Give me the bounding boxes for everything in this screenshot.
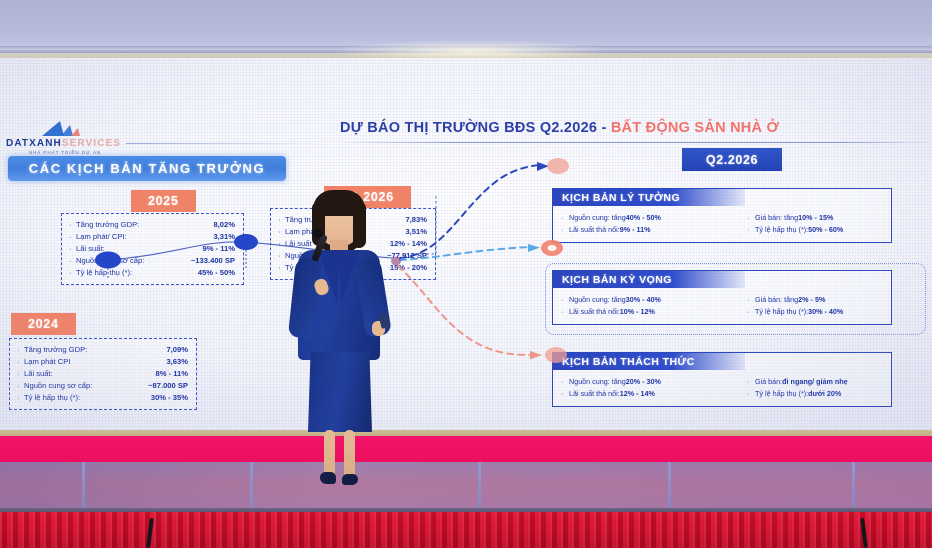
scenario-row: ·Lãi suất thả nổi: 9% - 11% ·Tỷ lệ hấp t… — [561, 224, 885, 236]
data-label: Lạm phát/ CPI: — [76, 231, 127, 243]
scenario-row: ·Nguồn cung: tăng 40% - 50% ·Giá bán: tă… — [561, 212, 885, 224]
logo-divider — [126, 143, 326, 144]
data-label: Lãi suất: — [76, 243, 105, 255]
slide-title-highlight: BẤT ĐỘNG SẢN NHÀ Ở — [611, 120, 779, 136]
deck-seam — [250, 462, 253, 512]
data-row: ·Tỷ lệ hấp thụ (*):45% - 50% — [69, 267, 235, 279]
scenario-label: Giá bán: tăng — [755, 294, 798, 306]
scenario-title: KỊCH BẢN KỲ VỌNG — [562, 274, 672, 286]
scenario-header: KỊCH BẢN LÝ TƯỞNG — [553, 189, 745, 206]
bullet-icon: · — [69, 255, 76, 267]
data-label: Lãi suất: — [24, 368, 53, 380]
logo-tagline: NHÀ PHÁT TRIỂN DỰ ÁN — [6, 150, 124, 155]
data-value: 8% - 11% — [145, 368, 188, 380]
scenario-value: 40% - 50% — [626, 212, 661, 224]
scenario-cell: ·Giá bán: tăng 2% - 5% — [747, 294, 825, 306]
datxanh-logo: DATXANHSERVICES NHÀ PHÁT TRIỂN DỰ ÁN — [6, 120, 124, 155]
data-value: 8,02% — [203, 219, 235, 231]
scenario-cell: ·Nguồn cung: tăng 20% - 30% — [561, 376, 747, 388]
data-row: ·Tăng trưởng GDP:8,02% — [69, 219, 235, 231]
scenario-body: ·Nguồn cung: tăng 40% - 50% ·Giá bán: tă… — [553, 206, 891, 242]
data-label: Nguồn cung sơ cấp: — [24, 380, 92, 392]
bullet-icon: · — [17, 344, 24, 356]
bullet-icon: · — [747, 376, 755, 388]
scenario-label: Nguồn cung: tăng — [569, 212, 626, 224]
presenter-hair-right — [353, 202, 366, 248]
deck-seam — [478, 462, 481, 512]
scenario-value: 9% - 11% — [620, 224, 651, 236]
presenter-shoe-left — [320, 472, 336, 484]
slide-title: DỰ BÁO THỊ TRƯỜNG BĐS Q2.2026 - BẤT ĐỘNG… — [340, 120, 920, 136]
data-row: ·Tỷ lệ hấp thụ (*):30% - 35% — [17, 392, 188, 404]
bullet-icon: · — [17, 392, 24, 404]
data-box-2025: ·Tăng trưởng GDP:8,02% ·Lạm phát/ CPI:3,… — [61, 213, 244, 285]
scenario-label: Lãi suất thả nổi: — [569, 224, 620, 236]
data-row: ·Lãi suất:8% - 11% — [17, 368, 188, 380]
logo-arrow-icon — [6, 120, 124, 137]
data-label: Tỷ lệ hấp thụ (*): — [76, 267, 132, 279]
logo-wordmark: DATXANHSERVICES — [6, 138, 124, 149]
presenter-skirt — [308, 352, 372, 432]
scenario-label: Giá bán: tăng — [755, 212, 798, 224]
scenario-label: Tỷ lệ hấp thụ (*): — [755, 306, 808, 318]
scenario-label: Nguồn cung: tăng — [569, 294, 626, 306]
presenter-shoe-right — [342, 474, 358, 485]
data-label: Lạm phát CPI — [24, 356, 70, 368]
data-value: 30% - 35% — [141, 392, 188, 404]
scenario-row: ·Nguồn cung: tăng 30% - 40% ·Giá bán: tă… — [561, 294, 885, 306]
scenario-label: Giá bán: — [755, 376, 782, 388]
microphone-head-icon — [313, 229, 323, 238]
slide-content: DATXANHSERVICES NHÀ PHÁT TRIỂN DỰ ÁN DỰ … — [0, 58, 932, 430]
stage-deck — [0, 462, 932, 512]
scenario-cell: ·Tỷ lệ hấp thụ (*): dưới 20% — [747, 388, 841, 400]
year-tag-label: 2025 — [148, 194, 179, 208]
scenario-value: đi ngang/ giảm nhẹ — [782, 376, 848, 388]
bullet-icon: · — [69, 267, 76, 279]
bullet-icon: · — [17, 380, 24, 392]
data-row: ·Lạm phát CPI3,63% — [17, 356, 188, 368]
projection-screen: DATXANHSERVICES NHÀ PHÁT TRIỂN DỰ ÁN DỰ … — [0, 58, 932, 430]
scenario-label: Tỷ lệ hấp thụ (*): — [755, 388, 808, 400]
bullet-icon: · — [747, 212, 755, 224]
section-header-label: CÁC KỊCH BẢN TĂNG TRƯỞNG — [29, 161, 266, 176]
logo-word-main: DATXANH — [6, 138, 62, 149]
bullet-icon: · — [561, 224, 569, 236]
scenario-label: Tỷ lệ hấp thụ (*): — [755, 224, 808, 236]
scenario-title: KỊCH BẢN THÁCH THỨC — [562, 356, 695, 368]
scenario-value: 30% - 40% — [626, 294, 661, 306]
data-value: 3,31% — [203, 231, 235, 243]
scenario-row: ·Lãi suất thả nổi: 10% - 12% ·Tỷ lệ hấp … — [561, 306, 885, 318]
scenario-cell: ·Tỷ lệ hấp thụ (*): 30% - 40% — [747, 306, 843, 318]
scenario-cell: ·Lãi suất thả nổi: 12% - 14% — [561, 388, 747, 400]
scenario-header: KỊCH BẢN THÁCH THỨC — [553, 353, 745, 370]
data-label: Tăng trưởng GDP: — [24, 344, 87, 356]
data-row: ·Nguồn cung sơ cấp:~133.400 SP — [69, 255, 235, 267]
year-tag-2025: 2025 — [131, 190, 196, 212]
scenario-card-expected: KỊCH BẢN KỲ VỌNG ·Nguồn cung: tăng 30% -… — [552, 270, 892, 325]
quarter-badge: Q2.2026 — [682, 148, 782, 171]
bullet-icon: · — [561, 306, 569, 318]
logo-word-accent: SERVICES — [62, 138, 121, 149]
bullet-icon: · — [747, 224, 755, 236]
data-value: 7,09% — [156, 344, 188, 356]
presenter-person — [262, 184, 422, 484]
deck-seam — [852, 462, 855, 512]
deck-shading — [0, 462, 932, 512]
bullet-icon: · — [17, 356, 24, 368]
bullet-icon: · — [561, 212, 569, 224]
data-row: ·Tăng trưởng GDP:7,09% — [17, 344, 188, 356]
scenario-value: 2% - 5% — [798, 294, 825, 306]
scenario-row: ·Nguồn cung: tăng 20% - 30% ·Giá bán: đi… — [561, 376, 885, 388]
deck-seam — [82, 462, 85, 512]
scenario-cell: ·Nguồn cung: tăng 30% - 40% — [561, 294, 747, 306]
year-tag-label: 2024 — [28, 317, 59, 331]
scenario-body: ·Nguồn cung: tăng 20% - 30% ·Giá bán: đi… — [553, 370, 891, 406]
scenario-value: 30% - 40% — [808, 306, 843, 318]
bullet-icon: · — [747, 388, 755, 400]
data-label: Nguồn cung sơ cấp: — [76, 255, 144, 267]
data-value: ~87.000 SP — [138, 380, 188, 392]
scenario-value: 12% - 14% — [620, 388, 655, 400]
data-value: 45% - 50% — [188, 267, 235, 279]
presentation-scene: DATXANHSERVICES NHÀ PHÁT TRIỂN DỰ ÁN DỰ … — [0, 0, 932, 548]
scenario-body: ·Nguồn cung: tăng 30% - 40% ·Giá bán: tă… — [553, 288, 891, 324]
data-label: Tỷ lệ hấp thụ (*): — [24, 392, 80, 404]
deck-seam — [668, 462, 671, 512]
scenario-cell: ·Giá bán: đi ngang/ giảm nhẹ — [747, 376, 848, 388]
scenario-value: 10% - 15% — [798, 212, 833, 224]
scenario-title: KỊCH BẢN LÝ TƯỞNG — [562, 192, 680, 204]
bullet-icon: · — [561, 376, 569, 388]
scenario-value: 10% - 12% — [620, 306, 655, 318]
scenario-cell: ·Lãi suất thả nổi: 9% - 11% — [561, 224, 747, 236]
stage-red-carpet — [0, 436, 932, 464]
scenario-cell: ·Giá bán: tăng 10% - 15% — [747, 212, 833, 224]
bullet-icon: · — [17, 368, 24, 380]
data-value: 3,63% — [156, 356, 188, 368]
scenario-card-ideal: KỊCH BẢN LÝ TƯỞNG ·Nguồn cung: tăng 40% … — [552, 188, 892, 243]
quarter-badge-label: Q2.2026 — [706, 153, 758, 167]
data-box-2024: ·Tăng trưởng GDP:7,09% ·Lạm phát CPI3,63… — [9, 338, 197, 410]
bullet-icon: · — [561, 388, 569, 400]
data-label: Tăng trưởng GDP: — [76, 219, 139, 231]
scenario-header: KỊCH BẢN KỲ VỌNG — [553, 271, 745, 288]
bullet-icon: · — [69, 219, 76, 231]
scenario-value: dưới 20% — [808, 388, 841, 400]
bullet-icon: · — [747, 294, 755, 306]
scenario-row: ·Lãi suất thả nổi: 12% - 14% ·Tỷ lệ hấp … — [561, 388, 885, 400]
stage-skirt-curtain — [0, 512, 932, 548]
bullet-icon: · — [69, 231, 76, 243]
data-value: 9% - 11% — [192, 243, 235, 255]
scenario-card-challenging: KỊCH BẢN THÁCH THỨC ·Nguồn cung: tăng 20… — [552, 352, 892, 407]
data-row: ·Lãi suất:9% - 11% — [69, 243, 235, 255]
scenario-cell: ·Tỷ lệ hấp thụ (*): 50% - 60% — [747, 224, 843, 236]
slide-title-main: DỰ BÁO THỊ TRƯỜNG BĐS Q2.2026 - — [340, 120, 611, 136]
section-header-growth-scenarios: CÁC KỊCH BẢN TĂNG TRƯỞNG — [8, 156, 286, 181]
scenario-label: Nguồn cung: tăng — [569, 376, 626, 388]
scenario-value: 50% - 60% — [808, 224, 843, 236]
data-row: ·Lạm phát/ CPI:3,31% — [69, 231, 235, 243]
bullet-icon: · — [561, 294, 569, 306]
bullet-icon: · — [747, 306, 755, 318]
scenario-label: Lãi suất thả nổi: — [569, 388, 620, 400]
bullet-icon: · — [69, 243, 76, 255]
scenario-label: Lãi suất thả nổi: — [569, 306, 620, 318]
title-divider — [340, 142, 928, 143]
scenario-cell: ·Lãi suất thả nổi: 10% - 12% — [561, 306, 747, 318]
scenario-cell: ·Nguồn cung: tăng 40% - 50% — [561, 212, 747, 224]
year-tag-2024: 2024 — [11, 313, 76, 335]
scenario-value: 20% - 30% — [626, 376, 661, 388]
data-row: ·Nguồn cung sơ cấp:~87.000 SP — [17, 380, 188, 392]
data-value: ~133.400 SP — [181, 255, 235, 267]
